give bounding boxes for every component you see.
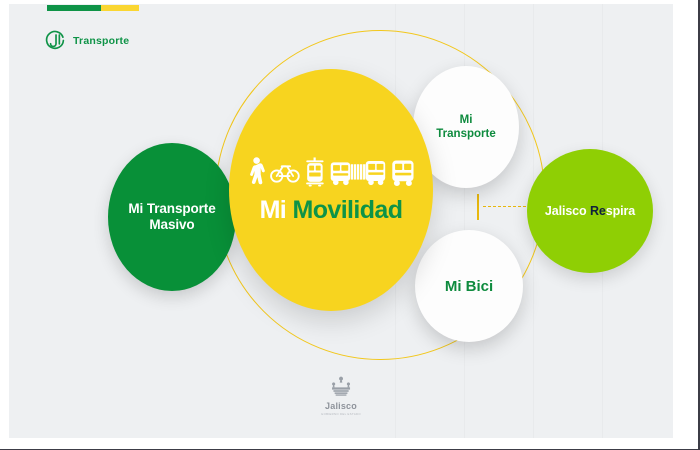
connector-dashed-line — [483, 206, 531, 207]
transporte-logo-label: Transporte — [73, 35, 129, 47]
articulated-bus-icon — [330, 157, 386, 187]
mobility-mode-icon-row — [248, 157, 415, 187]
jalisco-coat-of-arms-icon — [328, 376, 354, 400]
brand-accent-bar — [47, 5, 139, 11]
wordmark-re: Re — [590, 204, 606, 218]
bicycle-icon — [270, 157, 300, 187]
pedestrian-icon — [248, 157, 265, 187]
bubble-transporte-label-line2: Transporte — [436, 127, 495, 141]
bubble-bici-label: Mi Bici — [445, 278, 493, 295]
jalisco-respira-wordmark: Jalisco Respira — [545, 204, 635, 218]
wordmark-spira: spira — [606, 204, 635, 218]
wordmark-jalisco: Jalisco — [545, 204, 590, 218]
transporte-monogram-icon — [45, 30, 66, 51]
bubble-masivo-label-line2: Masivo — [128, 217, 215, 233]
brand-bar-green-segment — [47, 5, 101, 11]
wordmark-movilidad: Movilidad — [293, 196, 403, 224]
slide-canvas: Transporte Mi Transporte Masivo — [9, 4, 673, 438]
bubble-mi-movilidad[interactable]: Mi Movilidad — [229, 69, 433, 311]
bubble-transporte-label-line1: Mi — [436, 113, 495, 127]
brand-bar-yellow-segment — [101, 5, 139, 11]
connector-tick — [477, 194, 479, 220]
bubble-jalisco-respira[interactable]: Jalisco Respira — [527, 149, 653, 273]
bubble-mi-transporte-masivo[interactable]: Mi Transporte Masivo — [108, 143, 236, 291]
wordmark-mi: Mi — [260, 196, 287, 224]
seal-subtitle-label: GOBIERNO DEL ESTADO — [321, 412, 361, 416]
slide-frame: Transporte Mi Transporte Masivo — [0, 0, 700, 450]
seal-name-label: Jalisco — [325, 401, 357, 411]
bubble-mi-bici[interactable]: Mi Bici — [415, 230, 523, 342]
bubble-masivo-label-line1: Mi Transporte — [128, 201, 215, 217]
jalisco-government-seal: Jalisco GOBIERNO DEL ESTADO — [321, 376, 361, 416]
mi-movilidad-wordmark: Mi Movilidad — [260, 198, 403, 223]
train-icon — [305, 157, 325, 187]
transporte-logo: Transporte — [45, 30, 129, 51]
bubble-masivo-label: Mi Transporte Masivo — [128, 201, 215, 234]
bus-icon — [391, 157, 415, 187]
bubble-transporte-label: Mi Transporte — [436, 113, 495, 142]
